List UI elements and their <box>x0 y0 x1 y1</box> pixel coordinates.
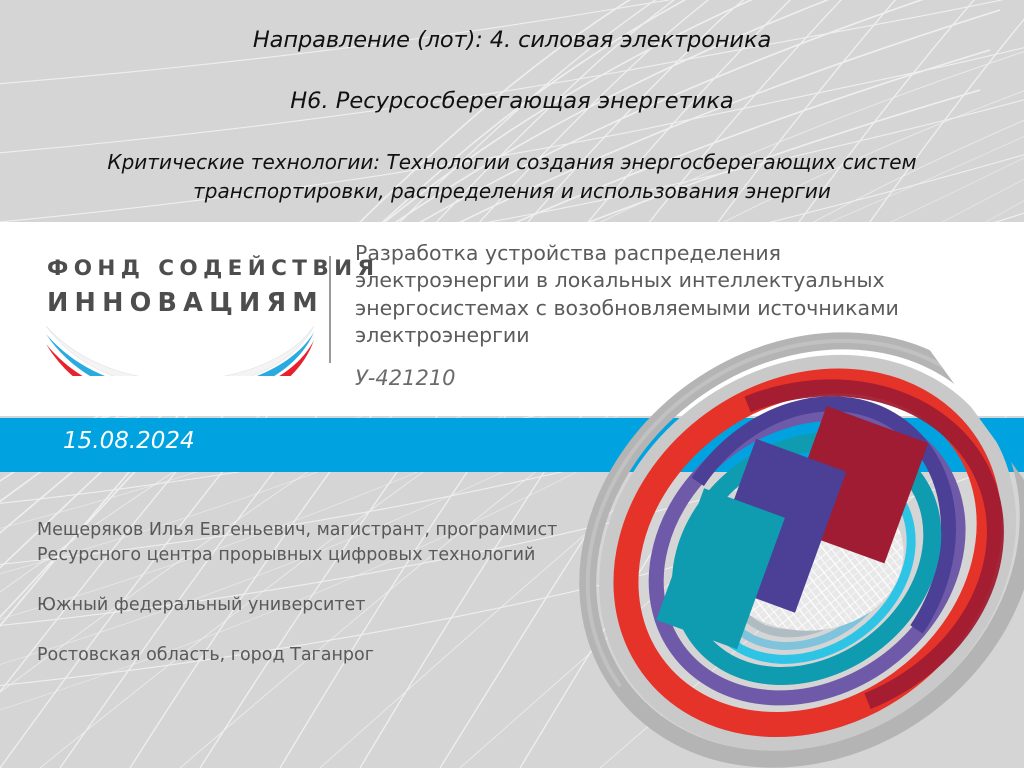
project-code: У-421210 <box>355 366 456 390</box>
header-critical-tech-line-2: транспортировки, распределения и использ… <box>0 177 1024 206</box>
author-role-line: Ресурсного центра прорывных цифровых тех… <box>37 543 657 568</box>
project-title: Разработка устройства распределения элек… <box>355 240 915 349</box>
project-title-line-2: электроэнергии в локальных интеллектуаль… <box>355 267 915 294</box>
author-name-line: Мещеряков Илья Евгеньевич, магистрант, п… <box>37 518 657 543</box>
fund-logo-line-2: ИННОВАЦИЯМ <box>47 291 324 317</box>
project-title-line-4: электроэнергии <box>355 322 915 349</box>
author-location: Ростовская область, город Таганрог <box>37 643 657 668</box>
author-info: Мещеряков Илья Евгеньевич, магистрант, п… <box>37 518 657 668</box>
logo-title-divider <box>329 256 331 363</box>
header-direction-line: Направление (лот): 4. силовая электроник… <box>0 27 1024 53</box>
header-theme-line: Н6. Ресурсосберегающая энергетика <box>0 88 1024 114</box>
author-organization: Южный федеральный университет <box>37 593 657 618</box>
russian-tricolor-swoosh-icon <box>44 324 316 376</box>
fund-logo: ФОНД СОДЕЙСТВИЯ ИННОВАЦИЯМ <box>44 252 316 374</box>
spacer <box>37 618 657 643</box>
presentation-slide: Направление (лот): 4. силовая электроник… <box>0 0 1024 768</box>
header-critical-tech-line-1: Критические технологии: Технологии созда… <box>0 148 1024 177</box>
spacer <box>37 568 657 593</box>
presentation-date: 15.08.2024 <box>63 428 195 454</box>
header-critical-tech-block: Критические технологии: Технологии созда… <box>0 148 1024 206</box>
project-title-line-1: Разработка устройства распределения <box>355 240 915 267</box>
project-title-line-3: энергосистемах с возобновляемыми источни… <box>355 295 915 322</box>
slide-header: Направление (лот): 4. силовая электроник… <box>0 0 1024 222</box>
